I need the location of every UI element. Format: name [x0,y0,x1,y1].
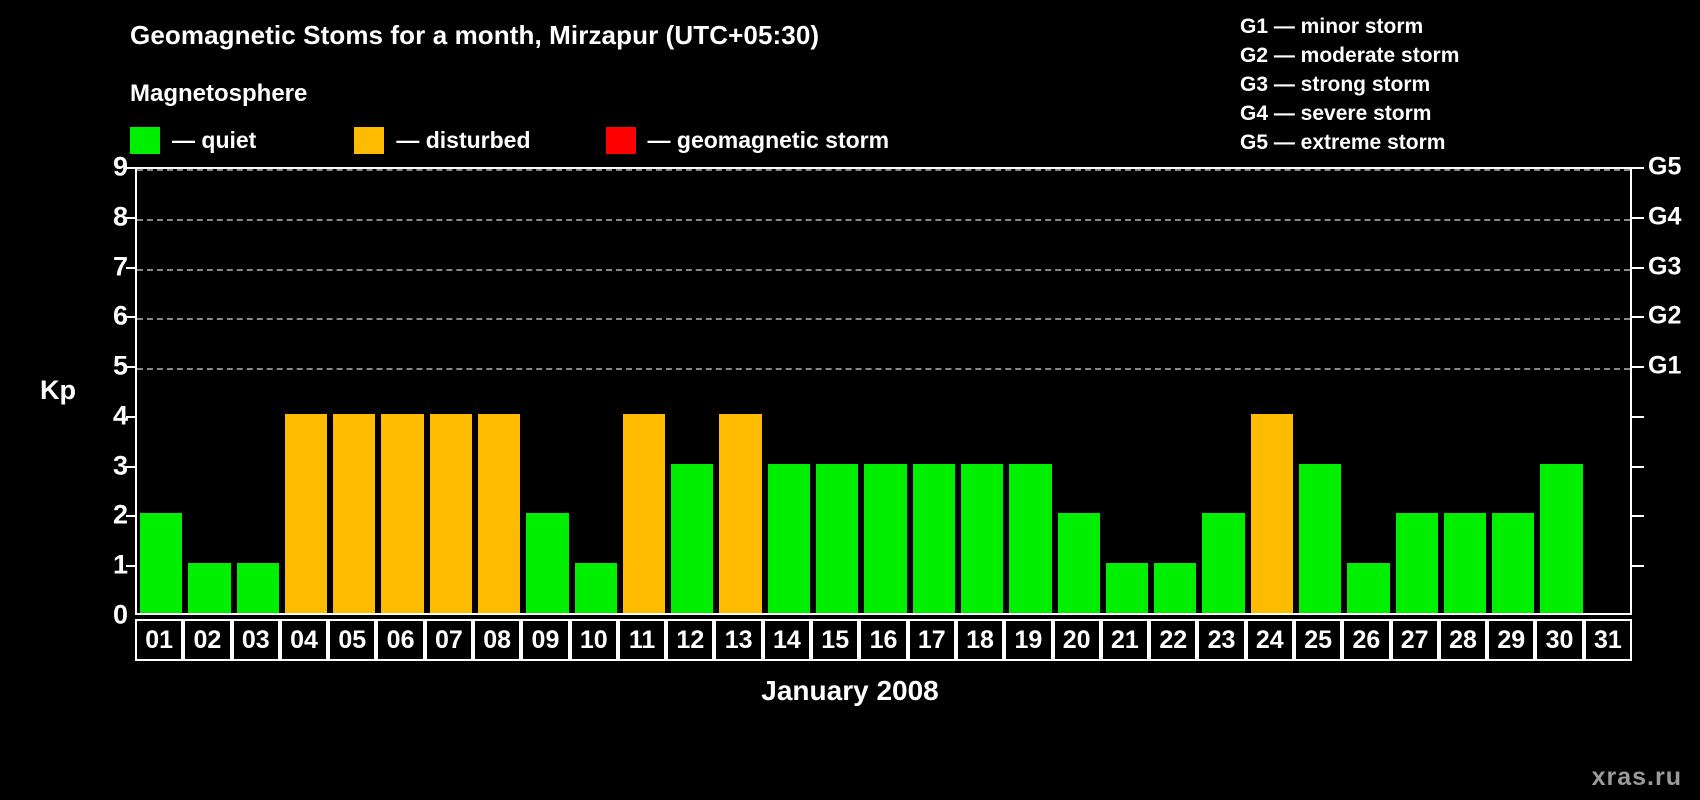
day-label-03: 03 [232,619,280,661]
g-scale-line-g2: G2 — moderate storm [1240,41,1459,70]
day-label-22: 22 [1149,619,1197,661]
watermark: xras.ru [1592,763,1682,792]
legend-swatch-disturbed-icon [354,127,384,154]
plot-area [135,167,1632,615]
bar-day-30[interactable] [1540,464,1582,613]
g-scale-line-g3: G3 — strong storm [1240,70,1459,99]
g-scale-line-g1: G1 — minor storm [1240,12,1459,41]
g-axis-label-g4: G4 [1648,202,1681,231]
plot-inner [137,169,1630,613]
bar-day-12[interactable] [671,464,713,613]
g-axis-label-g1: G1 [1648,352,1681,381]
day-label-18: 18 [956,619,1004,661]
magnetosphere-section-label: Magnetosphere [130,80,307,108]
day-label-19: 19 [1004,619,1052,661]
g-tick-mark-kp-4 [1632,416,1644,418]
g-tick-mark-kp-2 [1632,515,1644,517]
page-title: Geomagnetic Stoms for a month, Mirzapur … [130,20,819,51]
legend-swatch-quiet-icon [130,127,160,154]
g-scale-line-g4: G4 — severe storm [1240,99,1459,128]
bar-day-05[interactable] [333,414,375,613]
day-label-28: 28 [1439,619,1487,661]
bar-day-21[interactable] [1106,563,1148,613]
g-tick-mark-kp-3 [1632,466,1644,468]
bar-day-10[interactable] [575,563,617,613]
day-label-13: 13 [714,619,762,661]
bar-day-09[interactable] [526,513,568,613]
bar-day-28[interactable] [1444,513,1486,613]
bar-series [137,169,1630,613]
g-axis-label-g3: G3 [1648,252,1681,281]
legend-swatch-storm-icon [606,127,636,154]
x-axis-title: January 2008 [0,675,1700,707]
bar-day-18[interactable] [961,464,1003,613]
g-axis-tick-labels: G1G2G3G4G5 [1648,167,1700,615]
g-axis-label-g5: G5 [1648,153,1681,182]
day-label-20: 20 [1053,619,1101,661]
bar-day-04[interactable] [285,414,327,613]
bar-day-22[interactable] [1154,563,1196,613]
y-axis-title: Kp [40,375,76,406]
day-label-09: 09 [521,619,569,661]
day-label-25: 25 [1294,619,1342,661]
day-label-30: 30 [1535,619,1583,661]
day-label-02: 02 [183,619,231,661]
day-label-21: 21 [1101,619,1149,661]
bar-day-08[interactable] [478,414,520,613]
legend-item-storm: — geomagnetic storm [606,127,890,154]
g-tick-mark-g4 [1632,217,1644,219]
day-label-14: 14 [763,619,811,661]
day-label-23: 23 [1197,619,1245,661]
g-tick-mark-g2 [1632,316,1644,318]
magnetosphere-legend: — quiet — disturbed — geomagnetic storm [130,125,889,155]
bar-day-13[interactable] [719,414,761,613]
bar-day-19[interactable] [1009,464,1051,613]
bar-day-11[interactable] [623,414,665,613]
legend-item-disturbed: — disturbed [354,127,530,154]
bar-day-23[interactable] [1202,513,1244,613]
g-scale-legend: G1 — minor storm G2 — moderate storm G3 … [1240,12,1459,157]
bar-day-02[interactable] [188,563,230,613]
bar-day-25[interactable] [1299,464,1341,613]
g-axis-label-g2: G2 [1648,302,1681,331]
g-axis-tick-marks [1632,167,1644,615]
day-label-12: 12 [666,619,714,661]
day-label-07: 07 [425,619,473,661]
day-label-10: 10 [570,619,618,661]
day-label-24: 24 [1246,619,1294,661]
bar-day-27[interactable] [1396,513,1438,613]
bar-day-24[interactable] [1251,414,1293,613]
x-axis-day-labels: 0102030405060708091011121314151617181920… [135,619,1632,661]
g-tick-mark-g5 [1632,167,1644,169]
day-label-05: 05 [328,619,376,661]
bar-day-17[interactable] [913,464,955,613]
legend-label-quiet: — quiet [172,127,256,154]
day-label-04: 04 [280,619,328,661]
bar-day-01[interactable] [140,513,182,613]
bar-day-14[interactable] [768,464,810,613]
day-label-06: 06 [376,619,424,661]
legend-label-storm: — geomagnetic storm [648,127,890,154]
g-tick-mark-kp-1 [1632,565,1644,567]
day-label-17: 17 [908,619,956,661]
y-axis-tick-labels: 0123456789 [80,167,128,615]
bar-day-06[interactable] [381,414,423,613]
day-label-01: 01 [135,619,183,661]
day-label-27: 27 [1391,619,1439,661]
bar-day-15[interactable] [816,464,858,613]
day-label-29: 29 [1487,619,1535,661]
day-label-31: 31 [1584,619,1632,661]
bar-day-07[interactable] [430,414,472,613]
g-tick-mark-g3 [1632,267,1644,269]
bar-day-20[interactable] [1058,513,1100,613]
g-scale-line-g5: G5 — extreme storm [1240,128,1459,157]
day-label-26: 26 [1342,619,1390,661]
g-tick-mark-g1 [1632,366,1644,368]
bar-day-26[interactable] [1347,563,1389,613]
legend-label-disturbed: — disturbed [396,127,530,154]
day-label-08: 08 [473,619,521,661]
day-label-16: 16 [859,619,907,661]
bar-day-29[interactable] [1492,513,1534,613]
legend-item-quiet: — quiet [130,127,256,154]
day-label-11: 11 [618,619,666,661]
bar-day-16[interactable] [864,464,906,613]
day-label-15: 15 [811,619,859,661]
bar-day-03[interactable] [237,563,279,613]
